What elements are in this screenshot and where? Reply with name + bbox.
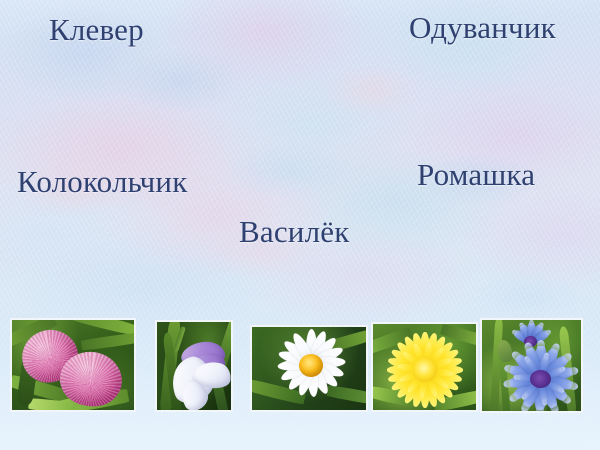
slide-canvas: Клевер Одуванчик Колокольчик Ромашка Вас…	[0, 0, 600, 450]
flower-photo-chamomile	[250, 325, 368, 412]
flower-photo-clover	[10, 318, 136, 412]
flower-photo-cornflower	[480, 318, 583, 413]
cornflower-center	[530, 370, 551, 388]
chamomile-bloom	[278, 335, 344, 403]
flower-label-klever: Клевер	[49, 14, 144, 45]
dandelion-bloom	[389, 334, 461, 406]
flower-label-romashka: Ромашка	[417, 159, 535, 190]
dandelion-center	[413, 358, 437, 382]
flower-photo-bellflower	[155, 320, 233, 412]
flower-label-oduvanchik: Одуванчик	[409, 12, 556, 43]
flower-label-vasilek: Василёк	[239, 216, 349, 247]
cornflower-bloom-main	[504, 346, 576, 408]
flower-label-kolokolchik: Колокольчик	[17, 166, 187, 197]
chamomile-center	[299, 354, 323, 377]
flower-photo-dandelion	[371, 322, 478, 412]
